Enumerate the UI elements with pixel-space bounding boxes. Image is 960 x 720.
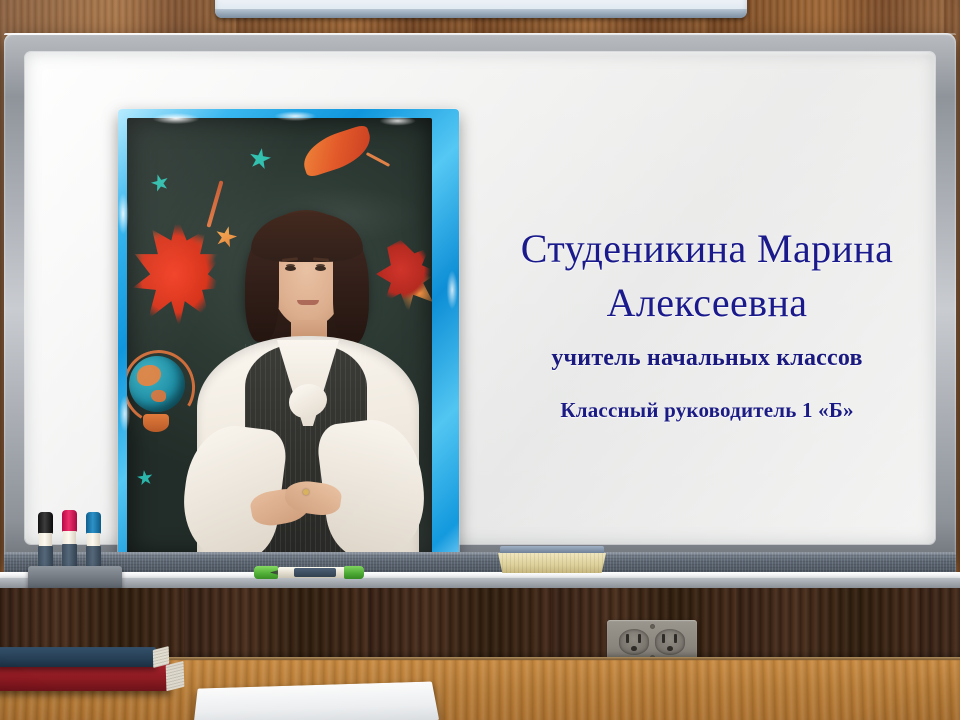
book-blue[interactable]	[0, 647, 156, 667]
eye-right	[315, 266, 326, 271]
book-red-pages	[166, 661, 185, 691]
whiteboard-surface[interactable]: Студеникина Марина Алексеевна учитель на…	[25, 52, 935, 544]
marker-green[interactable]	[256, 566, 364, 579]
socket-prong-3	[662, 634, 665, 643]
outlet-socket-right[interactable]	[655, 629, 685, 655]
marker-holder[interactable]	[28, 566, 122, 590]
socket-prong-4	[674, 634, 677, 643]
notebook[interactable]	[193, 682, 439, 720]
hair-fringe	[251, 212, 363, 262]
projector-screen[interactable]	[215, 0, 747, 18]
marker-black-cap	[38, 512, 53, 534]
teacher-photo-frame[interactable]	[118, 109, 459, 585]
eye-left	[285, 266, 296, 271]
classroom-scene: Студеникина Марина Алексеевна учитель на…	[0, 0, 960, 720]
board-tray-rail	[4, 552, 956, 574]
marker-pink-barrel	[63, 531, 76, 545]
mouth	[297, 300, 319, 305]
teacher-name-line-2: Алексеевна	[457, 276, 957, 330]
ring-icon	[303, 489, 309, 495]
marker-blue-barrel	[87, 533, 100, 547]
teacher-name-line-1: Студеникина Марина	[457, 222, 957, 276]
whiteboard-frame: Студеникина Марина Алексеевна учитель на…	[4, 33, 956, 563]
whiteboard-eraser[interactable]	[498, 546, 606, 572]
class-teacher-role: Классный руководитель 1 «Б»	[457, 398, 957, 423]
socket-prong-1	[626, 634, 629, 643]
socket-ground	[631, 646, 637, 651]
marker-pink-cap	[62, 510, 77, 532]
slide-text-block: Студеникина Марина Алексеевна учитель на…	[457, 222, 957, 423]
teacher-photo	[127, 118, 432, 558]
socket-ground-2	[667, 646, 673, 651]
outlet-socket-left[interactable]	[619, 629, 649, 655]
teacher-portrait	[127, 168, 432, 558]
marker-blue-cap	[86, 512, 101, 534]
arm-left	[177, 421, 288, 558]
eraser-felt	[498, 553, 606, 573]
marker-black-barrel	[39, 533, 52, 547]
socket-prong-2	[638, 634, 641, 643]
marker-green-end	[344, 566, 364, 579]
teacher-position: учитель начальных классов	[457, 345, 957, 372]
outlet-screw-top	[650, 624, 655, 629]
marker-green-grip	[294, 568, 336, 577]
